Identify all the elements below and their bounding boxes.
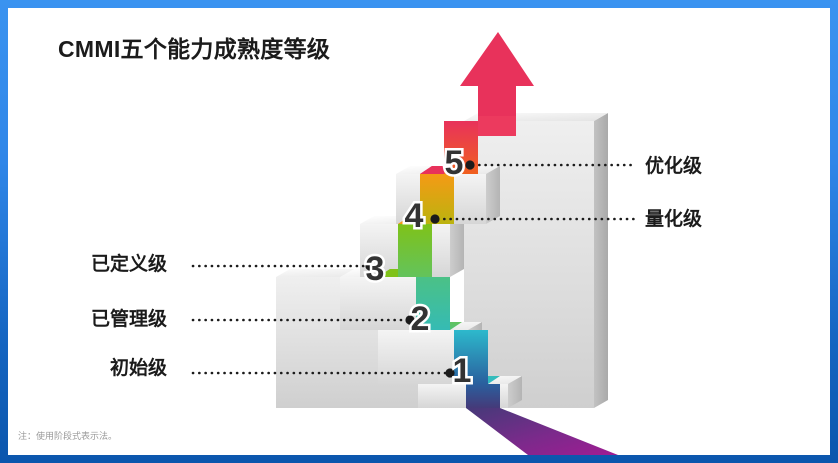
- step-label-quantitative: 量化级: [645, 204, 702, 231]
- step-label-managed: 已管理级: [91, 304, 167, 331]
- step-number-3: 3: [366, 250, 385, 288]
- slide-frame: CMMI五个能力成熟度等级: [0, 0, 838, 463]
- step-number-2: 2: [411, 300, 430, 338]
- step-label-optimizing: 优化级: [645, 151, 702, 178]
- step-label-initial: 初始级: [110, 353, 167, 380]
- step-number-5: 5: [445, 144, 464, 182]
- staircase-diagram: 5 4 3 2 1: [8, 8, 830, 455]
- step-number-4: 4: [405, 197, 424, 235]
- leader-dot-4: [430, 214, 439, 223]
- step-label-defined: 已定义级: [91, 249, 167, 276]
- footnote-text: 注：使用阶段式表示法。: [18, 429, 117, 442]
- slide-canvas: CMMI五个能力成熟度等级: [8, 8, 830, 455]
- step-number-1: 1: [453, 352, 472, 390]
- leader-dot-5: [465, 160, 474, 169]
